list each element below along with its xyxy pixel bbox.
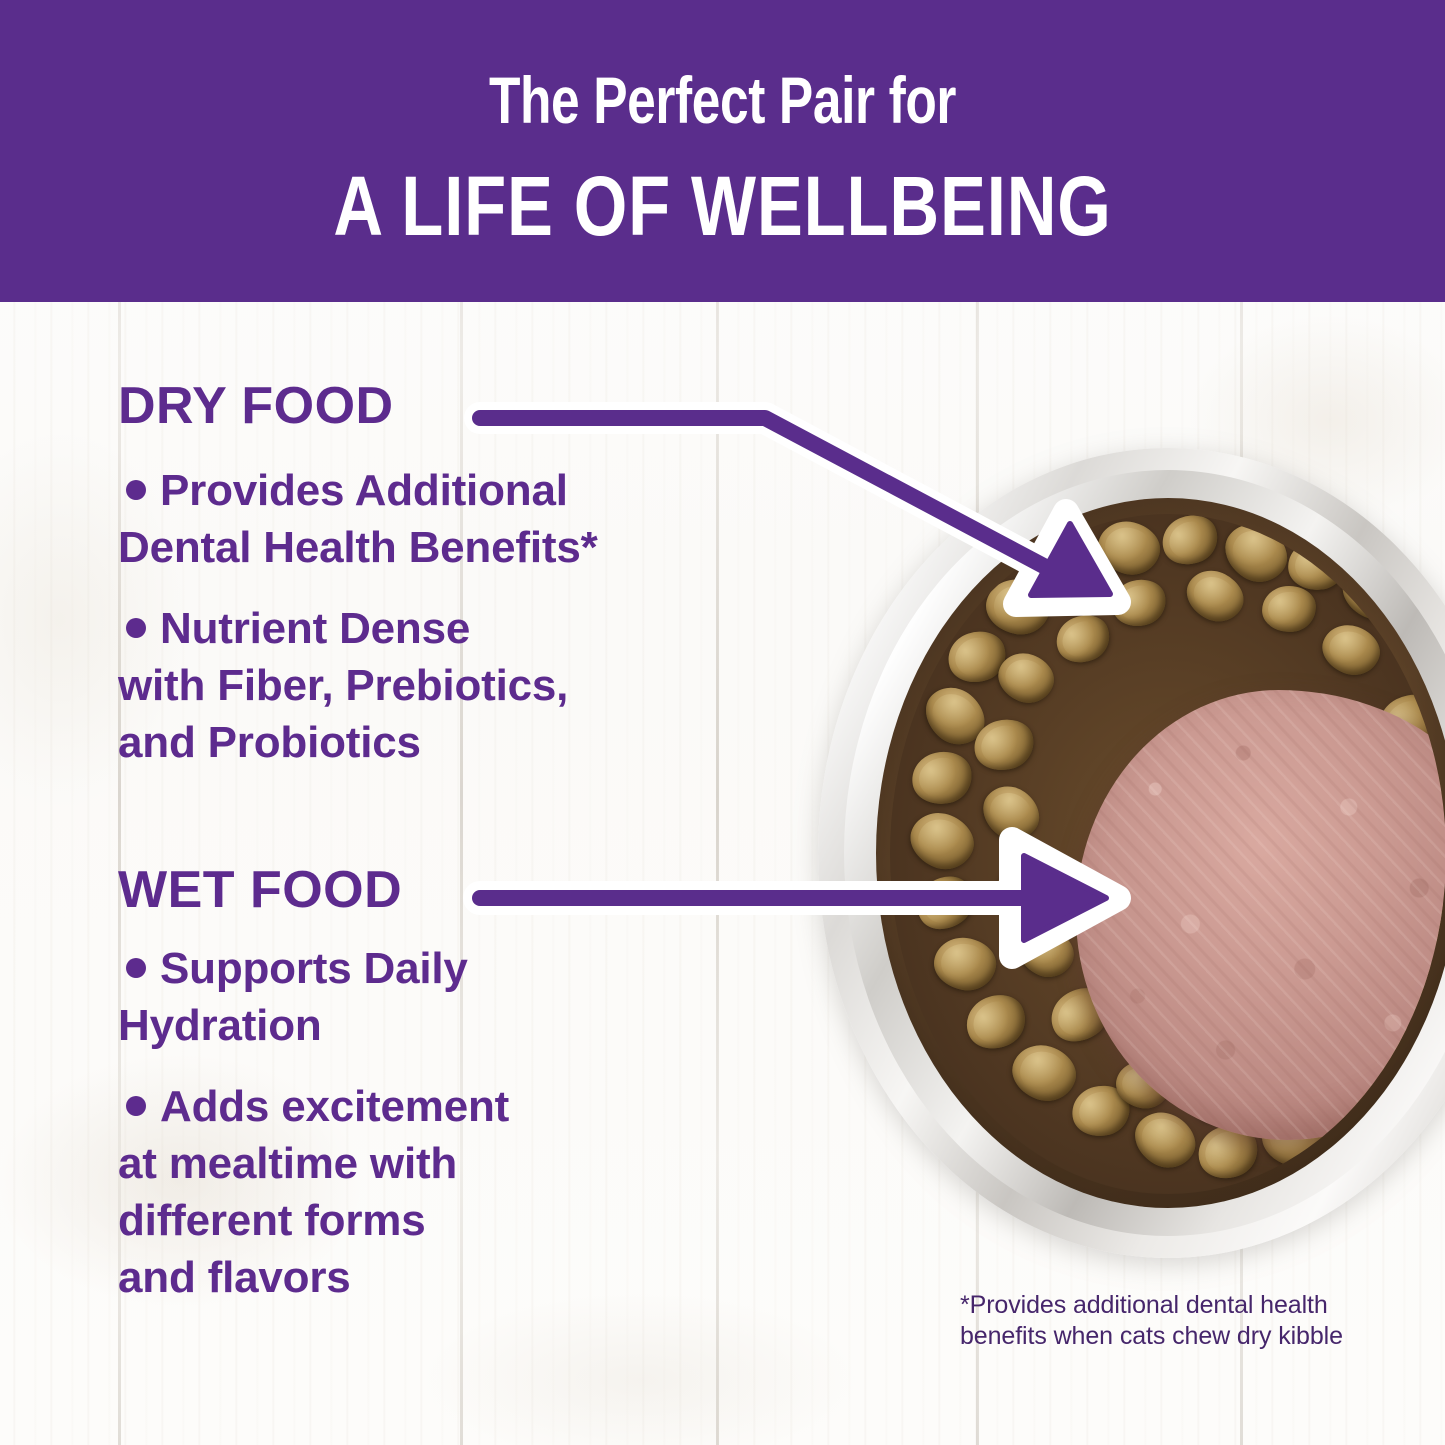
wet-food-pate-mound [1076, 690, 1445, 1140]
section-title-wet-food: WET FOOD [118, 862, 402, 918]
footnote-line-1: *Provides additional dental health [960, 1290, 1390, 1321]
bullet-dry-2-line1: Nutrient Dense [160, 604, 470, 653]
bullet-wet-2: Adds excitement at mealtime with differe… [118, 1078, 778, 1306]
infographic-root: The Perfect Pair for A LIFE OF WELLBEING… [0, 0, 1445, 1445]
cat-food-bowl-photo [818, 448, 1445, 1258]
bullet-wet-1-line1: Supports Daily [160, 944, 468, 993]
bullet-dry-2-line2: with Fiber, Prebiotics, [118, 661, 568, 710]
bullet-wet-2-line4: and flavors [118, 1253, 351, 1302]
bullet-dry-2-line3: and Probiotics [118, 718, 421, 767]
bullet-wet-1: Supports Daily Hydration [118, 940, 778, 1054]
section-title-dry-food: DRY FOOD [118, 378, 394, 434]
bullet-dry-1-line2: Dental Health Benefits* [118, 523, 598, 572]
dry-kibble-bed [890, 514, 1445, 1194]
bullet-dry-1: Provides Additional Dental Health Benefi… [118, 462, 778, 576]
bullet-dot-icon [126, 618, 146, 638]
footnote-line-2: benefits when cats chew dry kibble [960, 1321, 1390, 1352]
benefits-text-column: DRY FOOD Provides Additional Dental Heal… [0, 0, 820, 1445]
footnote: *Provides additional dental health benef… [960, 1290, 1390, 1352]
bullet-wet-1-line2: Hydration [118, 1001, 322, 1050]
bullet-dry-1-line1: Provides Additional [160, 466, 568, 515]
bullet-dot-icon [126, 958, 146, 978]
bullet-wet-2-line1: Adds excitement [160, 1082, 509, 1131]
pate-texture-strands [1076, 690, 1445, 1140]
bullet-dot-icon [126, 1096, 146, 1116]
bullet-dry-2: Nutrient Dense with Fiber, Prebiotics, a… [118, 600, 778, 771]
bullet-wet-2-line3: different forms [118, 1196, 425, 1245]
bullet-dot-icon [126, 480, 146, 500]
bullet-wet-2-line2: at mealtime with [118, 1139, 457, 1188]
